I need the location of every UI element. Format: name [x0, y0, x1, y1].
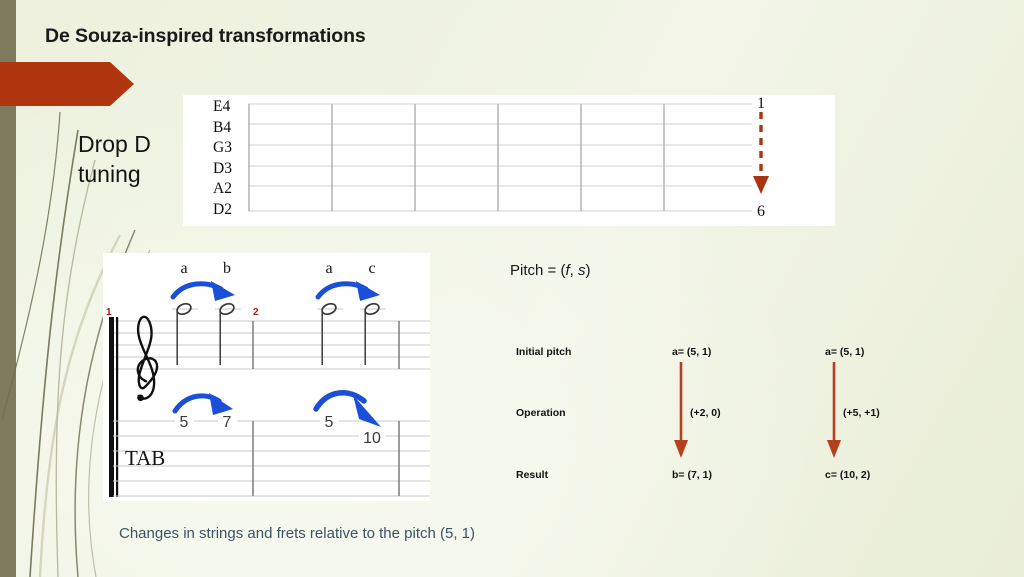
col2-operation-value: (+5, +1) — [843, 407, 880, 419]
svg-text:5: 5 — [180, 414, 189, 431]
string-number-top: 1 — [757, 95, 765, 113]
string-label-3: D3 — [213, 159, 253, 180]
pitch-header-comma: , — [570, 262, 578, 279]
pitch-definition-header: Pitch = (f, s) — [510, 262, 590, 279]
svg-text:TAB: TAB — [125, 446, 165, 470]
col2-initial-pitch-value: a= (5, 1) — [825, 346, 864, 358]
col2-transform-arrow-icon — [825, 362, 843, 460]
transform-arrow-staff-1 — [173, 281, 235, 301]
string-number-bottom: 6 — [757, 203, 765, 221]
tuning-label: Drop D tuning — [78, 130, 188, 190]
slide-canvas: De Souza-inspired transformations Drop D… — [0, 0, 1024, 577]
string-label-4: A2 — [213, 179, 253, 200]
col1-initial-pitch-value: a= (5, 1) — [672, 346, 711, 358]
svg-text:b: b — [223, 260, 231, 277]
svg-text:a: a — [325, 260, 332, 277]
string-label-1: B4 — [213, 118, 253, 139]
slide-caption: Changes in strings and frets relative to… — [119, 525, 475, 542]
transform-arrow-staff-2 — [318, 281, 380, 301]
string-label-5: D2 — [213, 200, 253, 221]
fretboard-string-labels: E4 B4 G3 D3 A2 D2 — [213, 97, 253, 221]
tuning-label-line2: tuning — [78, 160, 188, 190]
string-label-0: E4 — [213, 97, 253, 118]
row-label-operation: Operation — [516, 407, 566, 419]
col1-operation-value: (+2, 0) — [690, 407, 721, 419]
col1-result-value: b= (7, 1) — [672, 469, 712, 481]
tuning-label-line1: Drop D — [78, 130, 188, 160]
svg-text:1: 1 — [106, 307, 112, 318]
row-label-initial-pitch: Initial pitch — [516, 346, 571, 358]
svg-text:2: 2 — [253, 307, 259, 318]
row-label-result: Result — [516, 469, 548, 481]
fretboard-grid — [248, 101, 752, 219]
pitch-header-close: ) — [585, 262, 590, 279]
pitch-header-text: Pitch = — [510, 262, 560, 279]
banner-arrow-shape — [0, 62, 135, 106]
string-direction-arrow-icon — [748, 112, 774, 202]
col1-transform-arrow-icon — [672, 362, 690, 460]
col2-result-value: c= (10, 2) — [825, 469, 870, 481]
svg-text:7: 7 — [223, 414, 232, 431]
page-title: De Souza-inspired transformations — [45, 25, 366, 48]
string-label-2: G3 — [213, 138, 253, 159]
svg-text:5: 5 — [325, 414, 334, 431]
music-notation: a b a c 1 2 — [103, 253, 430, 501]
svg-text:10: 10 — [363, 430, 381, 447]
svg-text:a: a — [180, 260, 187, 277]
svg-text:c: c — [368, 260, 375, 277]
